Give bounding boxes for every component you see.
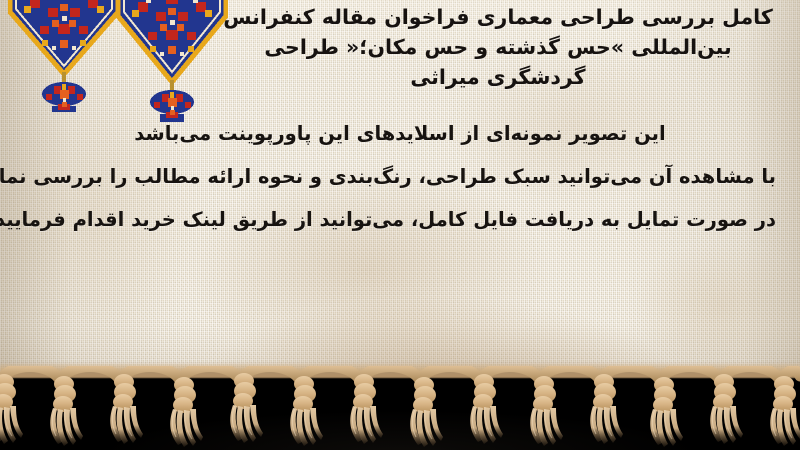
title-line-3: گردشگری میراثی (218, 62, 778, 92)
body-line-2: با مشاهده آن می‌توانید سبک طراحی، رنگ‌بن… (24, 155, 776, 198)
carpet-fringe-tassels (0, 366, 800, 450)
title-line-1: کامل بررسی طراحی معماری فراخوان مقاله کن… (218, 2, 778, 32)
title-line-2: بین‌المللی »حس گذشته و حس مکان؛« طراحی (218, 32, 778, 62)
slide-title: کامل بررسی طراحی معماری فراخوان مقاله کن… (218, 2, 778, 92)
body-line-1: این تصویر نمونه‌ای از اسلایدهای این پاور… (24, 112, 776, 155)
slide-canvas: کامل بررسی طراحی معماری فراخوان مقاله کن… (0, 0, 800, 450)
body-line-3: در صورت تمایل به دریافت فایل کامل، می‌تو… (24, 198, 776, 241)
slide-body: این تصویر نمونه‌ای از اسلایدهای این پاور… (24, 112, 776, 241)
